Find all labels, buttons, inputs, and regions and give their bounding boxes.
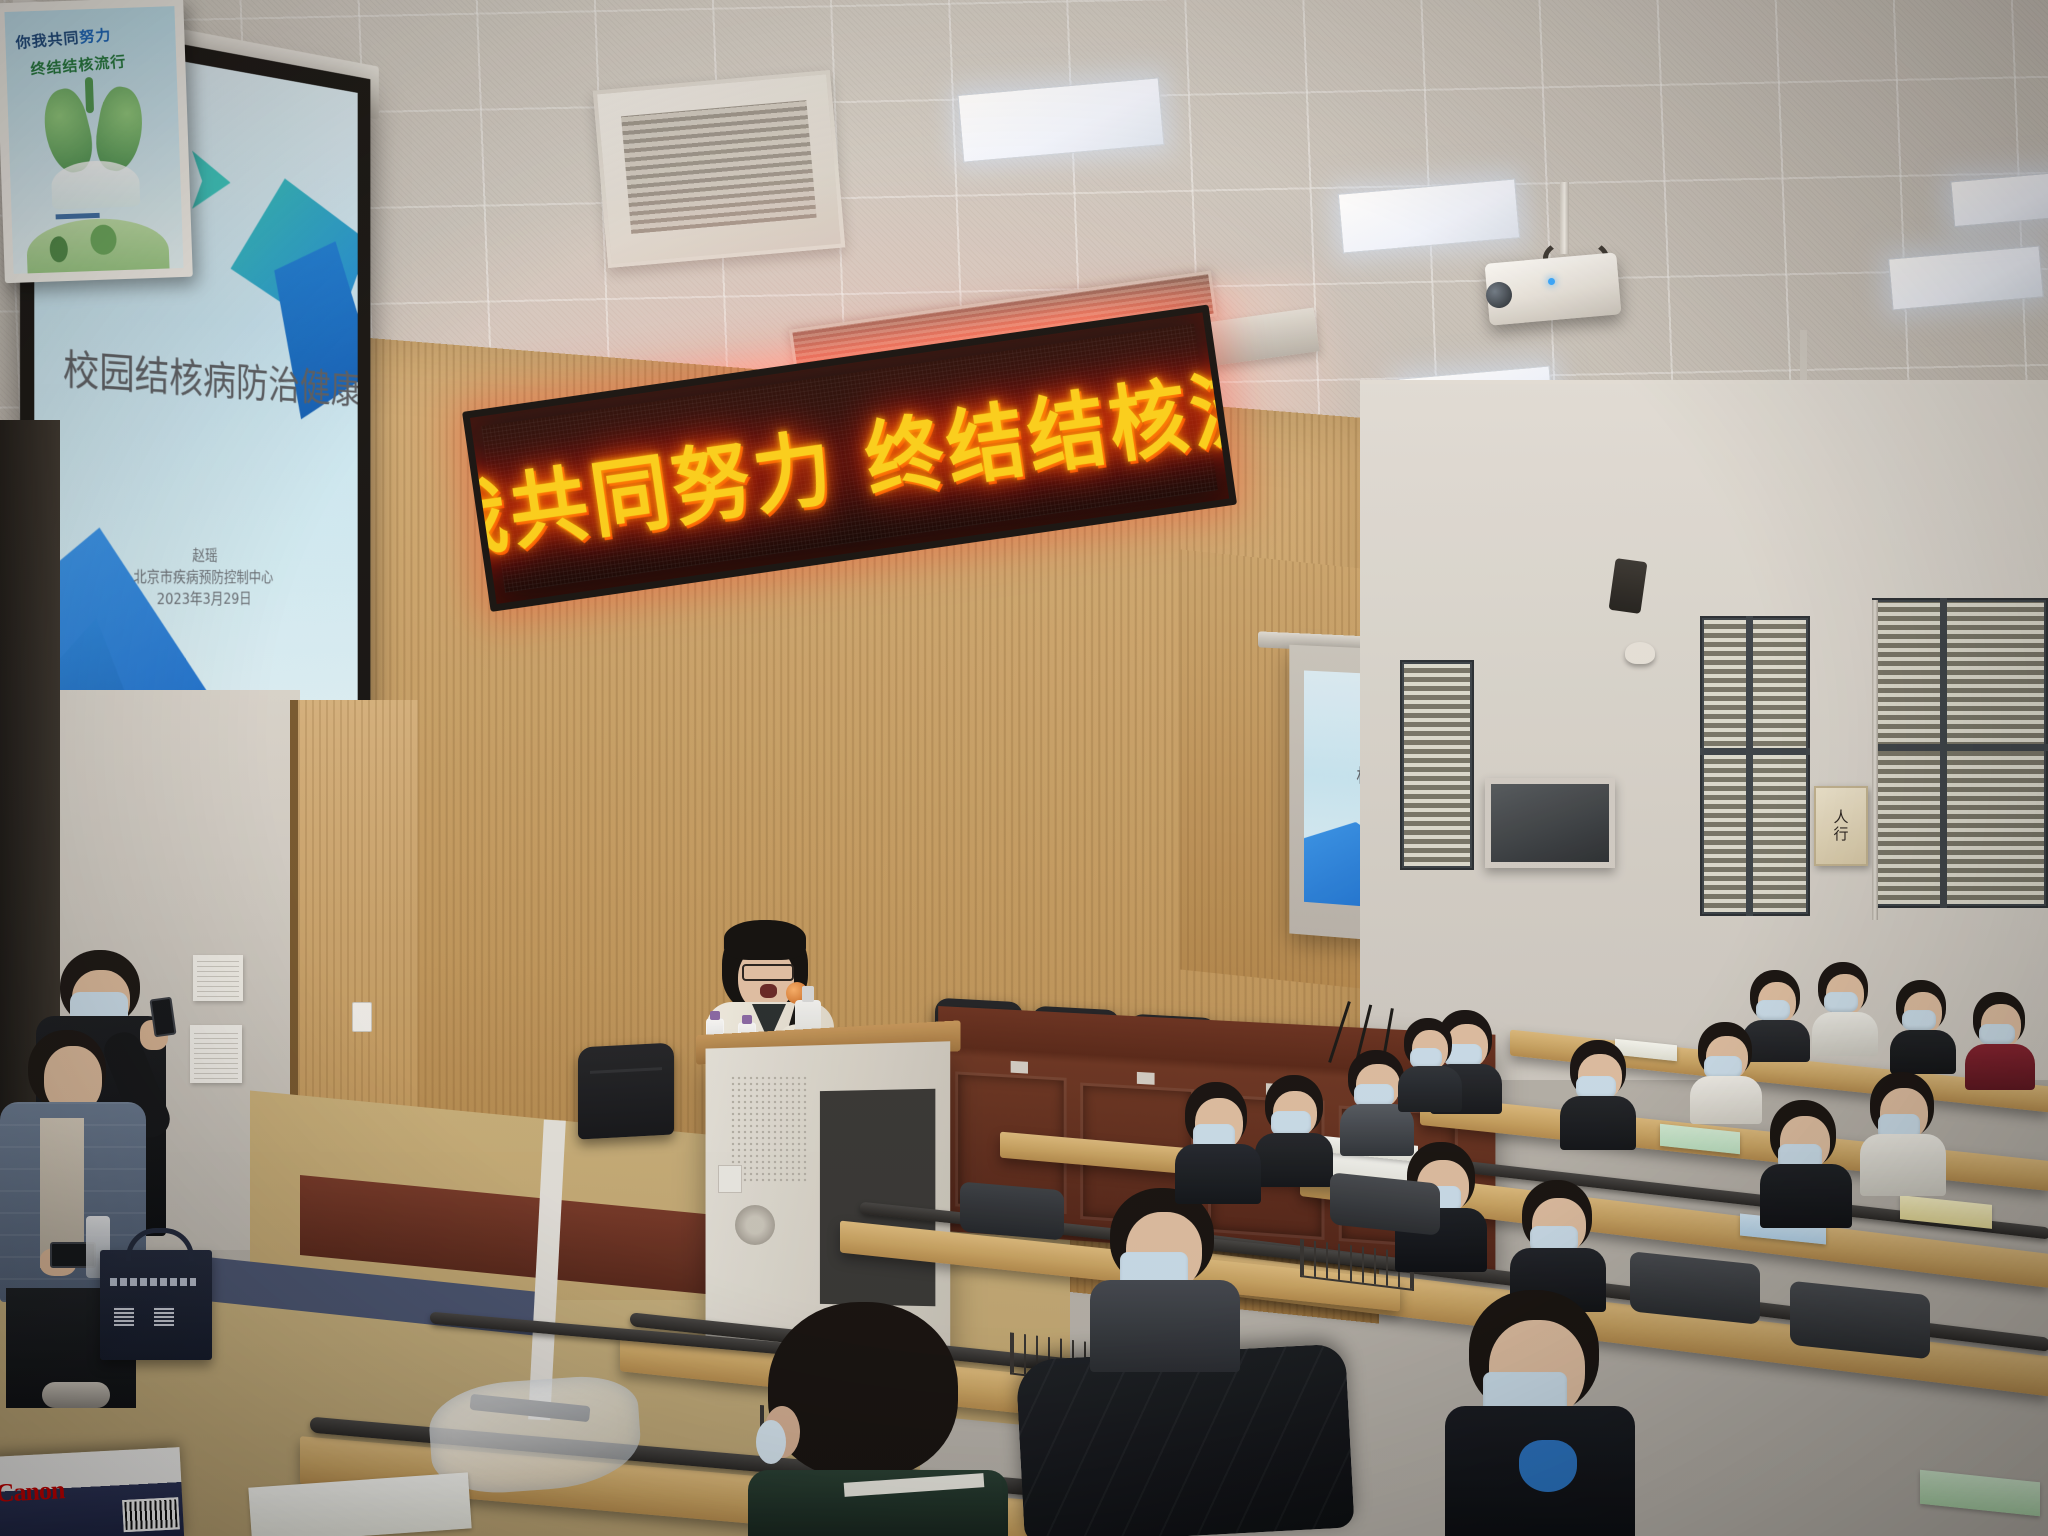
handout-on-desk [1920,1470,2040,1517]
qr-code-icon [154,1306,174,1326]
window-mullion [1940,598,1947,908]
poster-line2: 终结结核流行 [29,50,126,79]
window-blinds [1876,602,2044,904]
student-torso [1255,1133,1333,1187]
slide-poly-arrow [192,150,231,213]
notice-text-lines [194,1029,238,1079]
notice-text-lines [197,959,239,997]
security-camera-icon [1625,642,1655,664]
student-torso [1890,1030,1956,1074]
projector-status-led-icon [1548,278,1555,285]
wall-notice [190,1025,242,1083]
ceiling-light-panel [1950,171,2048,227]
poster-artwork: 你我共同努力 终结结核流行 [4,6,183,274]
face-mask [1410,1048,1442,1068]
student [1560,1040,1636,1148]
student-torso [1560,1096,1636,1150]
window-right [1872,598,2048,908]
panel-chair[interactable] [578,1042,674,1139]
student-head [768,1302,958,1478]
lecture-hall-photo: 你我共同努力 终结结核流行 校园结核病防治健康教育 赵瑶 北京市疾病预防控制中心… [0,0,2048,1536]
student [1760,1100,1852,1226]
podium-speaker-round [735,1205,775,1245]
student [1965,992,2035,1088]
face-mask-strap [756,1420,786,1464]
student-foreground-center [738,1302,1018,1536]
student [1860,1072,1946,1194]
window-transom [1872,744,2048,751]
student [1812,962,1878,1054]
student-torso [1760,1164,1852,1228]
window-mullion [1746,616,1753,916]
rostrum-nameplate [1011,1061,1028,1074]
light-switch[interactable] [352,1002,372,1032]
podium-dark-panel [820,1089,935,1306]
tote-bag-text [110,1278,196,1286]
tote-bag [100,1250,212,1360]
poster-line1-a: 你我共同 [15,29,80,53]
window-blinds [1404,664,1470,866]
canon-logo: Canon [0,1475,65,1509]
face-mask [1824,992,1858,1012]
student [1255,1075,1333,1185]
student-torso [1690,1076,1762,1124]
poster-line1-b: 努力 [79,26,112,47]
slide-date-left: 2023年3月29日 [34,588,357,611]
window-transom [1700,748,1810,755]
student-torso [1175,1144,1261,1204]
student-foreground-right [1445,1290,1635,1536]
presenter-fringe [724,920,806,960]
face-mask [1704,1056,1742,1078]
student [1398,1018,1462,1110]
slide-presenter-left: 赵瑶 [34,542,357,567]
student-torso [1398,1066,1462,1112]
student-torso [1090,1280,1240,1372]
face-mask [1902,1010,1936,1030]
face-mask [1354,1084,1394,1106]
canon-equipment-box: Canon [0,1447,184,1536]
student [1890,980,1956,1072]
barcode-label-icon [122,1497,180,1532]
face-mask [1756,1000,1790,1020]
presenter-glasses-icon [742,964,794,981]
window-left [1700,616,1810,916]
student-leaning [1090,1188,1240,1366]
slide-subtitle-left: 赵瑶 北京市疾病预防控制中心 2023年3月29日 [34,542,357,611]
window-far [1400,660,1474,870]
face-mask [1271,1111,1311,1135]
person-shoe [42,1382,110,1408]
qr-code-icon [114,1306,134,1326]
seat-back [960,1181,1064,1240]
podium-outlet[interactable] [718,1165,742,1193]
student-torso [1965,1044,2035,1090]
poster-line1: 你我共同努力 [15,24,112,53]
wall-notice [193,955,243,1001]
puffer-jacket-on-desk [1015,1343,1354,1536]
student-torso [1860,1134,1946,1196]
student-torso [1812,1012,1878,1056]
wall-mounted-panel [1485,778,1615,868]
window-blinds [1704,620,1806,912]
standing-poster-easel: 你我共同努力 终结结核流行 [0,0,193,283]
face-mask [1979,1024,2015,1044]
presenter-mouth [760,984,777,998]
face-mask [1576,1076,1616,1098]
slide-org-left: 北京市疾病预防控制中心 [34,565,357,588]
student [1690,1022,1762,1122]
calligraphy-plaque: 人行 [1814,786,1868,866]
student [1175,1082,1261,1202]
hoodie-logo-icon [1519,1440,1577,1492]
wall-pipe-conduit [1872,600,1878,920]
rostrum-nameplate [1137,1072,1155,1085]
poster-trachea-icon [85,77,94,113]
